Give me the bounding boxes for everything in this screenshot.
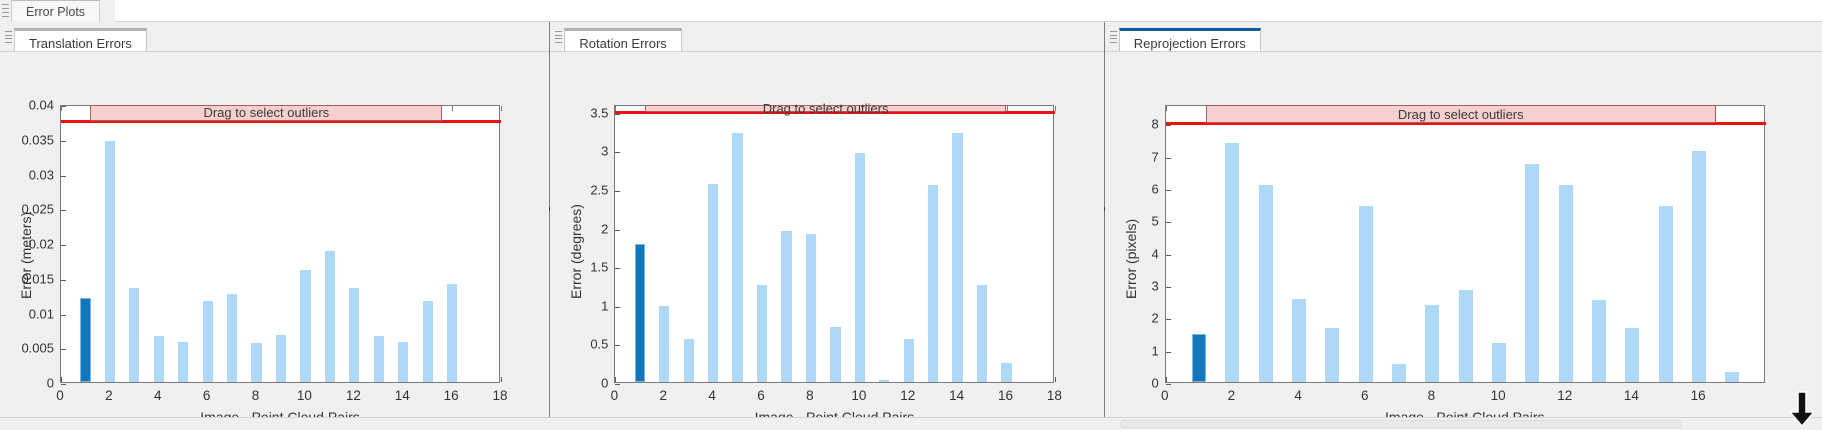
- bar[interactable]: [178, 342, 188, 382]
- y-tick-mark: [615, 191, 620, 192]
- x-tick-label: 18: [492, 388, 507, 403]
- drag-band-label: Drag to select outliers: [1398, 107, 1524, 122]
- bar[interactable]: [1625, 328, 1639, 382]
- bar[interactable]: [80, 298, 90, 382]
- bar[interactable]: [129, 288, 139, 382]
- y-tick-mark: [615, 230, 620, 231]
- y-axis-label: Error (pixels): [1123, 219, 1139, 299]
- x-tick-label: 16: [1691, 388, 1706, 403]
- y-tick-mark: [1166, 158, 1171, 159]
- bar[interactable]: [1259, 185, 1273, 382]
- bar[interactable]: [659, 306, 669, 382]
- bar[interactable]: [757, 285, 767, 382]
- x-tick-label: 8: [252, 388, 260, 403]
- y-tick-label: 0: [1105, 376, 1159, 391]
- x-tick-mark-top: [1055, 106, 1056, 111]
- panel-rotation-errors: Rotation Errors00.511.522.533.5024681012…: [550, 22, 1103, 430]
- bottom-strip: [0, 417, 1822, 430]
- bar[interactable]: [203, 301, 213, 382]
- bar[interactable]: [1725, 372, 1739, 382]
- bar[interactable]: [732, 133, 742, 382]
- document-tab-strip: Error Plots: [0, 0, 1822, 23]
- panel-tab-label: Reprojection Errors: [1134, 36, 1246, 51]
- bar[interactable]: [1292, 299, 1306, 382]
- panels-container: Translation Errors00.0050.010.0150.020.0…: [0, 22, 1822, 430]
- x-tick-mark-top: [61, 106, 62, 111]
- x-tick-mark-top: [452, 106, 453, 111]
- bar[interactable]: [1392, 364, 1406, 382]
- document-tab-filler: [115, 0, 1822, 22]
- plot-axes[interactable]: Drag to select outliers: [614, 105, 1054, 383]
- y-tick-label: 0.5: [550, 337, 608, 352]
- y-tick-mark: [1166, 190, 1171, 191]
- horizontal-scrollbar[interactable]: [1120, 420, 1682, 428]
- x-tick-label: 12: [1557, 388, 1572, 403]
- drag-to-select-outliers-band[interactable]: Drag to select outliers: [645, 105, 1007, 112]
- drag-to-select-outliers-band[interactable]: Drag to select outliers: [90, 105, 442, 121]
- x-tick-label: 14: [949, 388, 964, 403]
- y-tick-label: 1: [1105, 343, 1159, 358]
- plot-axes[interactable]: Drag to select outliers: [60, 105, 500, 383]
- bar[interactable]: [1525, 164, 1539, 382]
- bar[interactable]: [1425, 305, 1439, 382]
- grip-handle-icon[interactable]: [2, 4, 9, 17]
- y-tick-label: 0.035: [0, 132, 54, 147]
- panel-tab-row: Translation Errors: [0, 22, 549, 52]
- x-tick-label: 0: [611, 388, 619, 403]
- plot-axes[interactable]: Drag to select outliers: [1165, 105, 1765, 383]
- bar[interactable]: [154, 336, 164, 382]
- bar[interactable]: [928, 185, 938, 382]
- chart-area: 00.0050.010.0150.020.0250.030.0350.04024…: [0, 52, 549, 430]
- x-tick-mark-top: [1166, 106, 1167, 111]
- x-tick-mark: [615, 377, 616, 382]
- x-tick-label: 10: [297, 388, 312, 403]
- bar[interactable]: [1692, 151, 1706, 382]
- x-tick-label: 2: [1228, 388, 1236, 403]
- y-tick-mark: [61, 384, 66, 385]
- y-tick-mark: [615, 307, 620, 308]
- bar[interactable]: [904, 339, 914, 382]
- resize-cursor-icon: [1784, 390, 1820, 430]
- bar[interactable]: [977, 285, 987, 382]
- y-tick-mark: [1166, 125, 1171, 126]
- bar[interactable]: [879, 380, 889, 382]
- document-tab-error-plots[interactable]: Error Plots: [11, 0, 100, 22]
- bar[interactable]: [349, 288, 359, 382]
- x-tick-label: 2: [660, 388, 668, 403]
- panel-grip-handle-icon[interactable]: [1110, 31, 1117, 43]
- bar[interactable]: [1192, 334, 1206, 382]
- x-tick-mark: [501, 377, 502, 382]
- x-tick-label: 12: [900, 388, 915, 403]
- bar[interactable]: [952, 133, 962, 382]
- y-tick-mark: [1166, 287, 1171, 288]
- panel-grip-handle-icon[interactable]: [5, 31, 12, 43]
- panel-tab-label: Rotation Errors: [579, 36, 666, 51]
- drag-to-select-outliers-band[interactable]: Drag to select outliers: [1206, 105, 1716, 123]
- panel-translation-errors: Translation Errors00.0050.010.0150.020.0…: [0, 22, 549, 430]
- panel-reprojection-errors: Reprojection Errors012345678024681012141…: [1105, 22, 1822, 430]
- y-tick-mark: [615, 114, 620, 115]
- panel-tab-row: Rotation Errors: [550, 22, 1103, 52]
- y-tick-mark: [61, 349, 66, 350]
- bar[interactable]: [684, 339, 694, 382]
- bar[interactable]: [447, 284, 457, 382]
- y-tick-mark: [61, 141, 66, 142]
- x-tick-mark: [1055, 377, 1056, 382]
- x-tick-label: 10: [851, 388, 866, 403]
- bar[interactable]: [1459, 290, 1473, 382]
- x-tick-label: 4: [1294, 388, 1302, 403]
- bar[interactable]: [1225, 143, 1239, 382]
- bar[interactable]: [1325, 328, 1339, 382]
- bar[interactable]: [227, 294, 237, 382]
- document-tab-label: Error Plots: [26, 5, 85, 19]
- x-tick-label: 14: [395, 388, 410, 403]
- bar[interactable]: [105, 141, 115, 382]
- y-tick-mark: [1166, 222, 1171, 223]
- bar[interactable]: [251, 343, 261, 382]
- x-tick-label: 10: [1491, 388, 1506, 403]
- y-tick-mark: [1166, 384, 1171, 385]
- y-tick-mark: [61, 210, 66, 211]
- error-plots-app: Error Plots Translation Errors00.0050.01…: [0, 0, 1822, 430]
- x-tick-label: 4: [708, 388, 716, 403]
- y-tick-label: 3: [550, 144, 608, 159]
- bar[interactable]: [398, 342, 408, 382]
- y-tick-mark: [615, 268, 620, 269]
- y-tick-label: 2: [1105, 311, 1159, 326]
- x-tick-label: 6: [203, 388, 211, 403]
- x-tick-label: 16: [998, 388, 1013, 403]
- y-tick-label: 7: [1105, 149, 1159, 164]
- bar[interactable]: [806, 234, 816, 382]
- bar[interactable]: [830, 327, 840, 382]
- bar[interactable]: [855, 153, 865, 382]
- x-tick-label: 18: [1047, 388, 1062, 403]
- x-tick-label: 12: [346, 388, 361, 403]
- bar[interactable]: [781, 231, 791, 382]
- drag-band-label: Drag to select outliers: [763, 101, 889, 116]
- x-tick-label: 8: [1428, 388, 1436, 403]
- x-tick-label: 16: [444, 388, 459, 403]
- chart-area: 00.511.522.533.5024681012141618Drag to s…: [550, 52, 1103, 430]
- x-tick-mark: [61, 377, 62, 382]
- panel-grip-handle-icon[interactable]: [555, 31, 562, 43]
- bar[interactable]: [374, 336, 384, 382]
- bar[interactable]: [276, 335, 286, 382]
- y-tick-mark: [615, 152, 620, 153]
- y-tick-label: 2.5: [550, 182, 608, 197]
- x-tick-label: 4: [154, 388, 162, 403]
- bar[interactable]: [1659, 206, 1673, 382]
- y-tick-label: 0: [550, 376, 608, 391]
- x-tick-label: 0: [1161, 388, 1169, 403]
- bar[interactable]: [708, 184, 718, 382]
- y-tick-label: 0.03: [0, 167, 54, 182]
- y-tick-mark: [61, 280, 66, 281]
- panel-tab-row: Reprojection Errors: [1105, 22, 1822, 52]
- y-tick-mark: [61, 315, 66, 316]
- y-tick-label: 0.01: [0, 306, 54, 321]
- drag-band-label: Drag to select outliers: [203, 105, 329, 120]
- x-tick-label: 0: [56, 388, 64, 403]
- x-tick-label: 2: [105, 388, 113, 403]
- panel-tab-label: Translation Errors: [29, 36, 132, 51]
- y-tick-mark: [615, 345, 620, 346]
- y-tick-label: 3.5: [550, 105, 608, 120]
- y-axis-label: Error (degrees): [568, 204, 584, 299]
- y-tick-label: 0.04: [0, 98, 54, 113]
- x-tick-label: 14: [1624, 388, 1639, 403]
- x-tick-label: 6: [757, 388, 765, 403]
- y-tick-mark: [1166, 352, 1171, 353]
- x-tick-label: 6: [1361, 388, 1369, 403]
- y-tick-label: 1: [550, 298, 608, 313]
- bar[interactable]: [1359, 206, 1373, 382]
- bar[interactable]: [1559, 185, 1573, 382]
- y-tick-mark: [1166, 319, 1171, 320]
- bar[interactable]: [1592, 300, 1606, 382]
- bar[interactable]: [635, 244, 645, 382]
- y-axis-label: Error (meters): [18, 212, 34, 299]
- bar[interactable]: [1492, 343, 1506, 382]
- chart-area: 0123456780246810121416Drag to select out…: [1105, 52, 1822, 430]
- y-tick-mark: [615, 384, 620, 385]
- y-tick-mark: [61, 245, 66, 246]
- y-tick-label: 0.005: [0, 341, 54, 356]
- y-tick-label: 8: [1105, 117, 1159, 132]
- bar[interactable]: [325, 251, 335, 382]
- x-tick-mark: [1166, 377, 1167, 382]
- y-tick-label: 0: [0, 376, 54, 391]
- y-tick-mark: [1166, 255, 1171, 256]
- bar[interactable]: [1001, 363, 1011, 382]
- bar[interactable]: [300, 270, 310, 382]
- y-tick-mark: [61, 176, 66, 177]
- y-tick-label: 6: [1105, 182, 1159, 197]
- x-tick-mark-top: [501, 106, 502, 111]
- x-tick-label: 8: [806, 388, 814, 403]
- bar[interactable]: [423, 301, 433, 382]
